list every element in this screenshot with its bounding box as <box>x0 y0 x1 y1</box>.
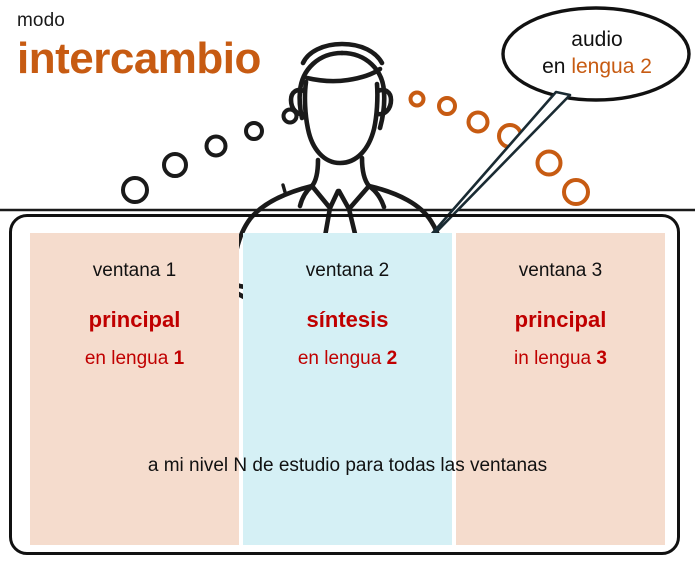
bubble-line-1: audio <box>505 26 689 53</box>
mode-label: modo <box>17 10 261 32</box>
window-1-title: ventana 1 <box>30 259 239 283</box>
window-2-language-number: 2 <box>387 348 398 369</box>
window-3-language: in lengua 3 <box>456 347 665 371</box>
window-3-language-prefix: in lengua <box>514 348 596 369</box>
black-circles-trail-icon <box>123 110 297 203</box>
page-title: intercambio <box>17 34 261 84</box>
panel-footnote: a mi nivel N de estudio para todas las v… <box>12 454 683 478</box>
windows-panel: ventana 1 principal en lengua 1 ventana … <box>9 214 680 555</box>
window-1-language-number: 1 <box>174 348 185 369</box>
window-3-mode: principal <box>456 307 665 333</box>
window-1-language: en lengua 1 <box>30 347 239 371</box>
bubble-line-2-highlight: lengua 2 <box>571 55 652 78</box>
header-block: modo intercambio <box>17 10 261 84</box>
window-1-mode: principal <box>30 307 239 333</box>
speech-bubble-text: audio en lengua 2 <box>505 26 689 80</box>
window-1-language-prefix: en lengua <box>85 348 174 369</box>
bubble-line-2: en lengua 2 <box>505 53 689 80</box>
bubble-line-2-prefix: en <box>542 55 571 78</box>
window-2-language: en lengua 2 <box>243 347 452 371</box>
windows-columns-row: ventana 1 principal en lengua 1 ventana … <box>30 233 665 545</box>
window-3-language-number: 3 <box>596 348 607 369</box>
window-3-title: ventana 3 <box>456 259 665 283</box>
orange-circles-trail-icon <box>411 93 589 205</box>
window-2-language-prefix: en lengua <box>298 348 387 369</box>
window-column-2[interactable]: ventana 2 síntesis en lengua 2 <box>243 233 452 545</box>
window-2-title: ventana 2 <box>243 259 452 283</box>
window-2-mode: síntesis <box>243 307 452 333</box>
window-column-1[interactable]: ventana 1 principal en lengua 1 <box>30 233 239 545</box>
window-column-3[interactable]: ventana 3 principal in lengua 3 <box>456 233 665 545</box>
